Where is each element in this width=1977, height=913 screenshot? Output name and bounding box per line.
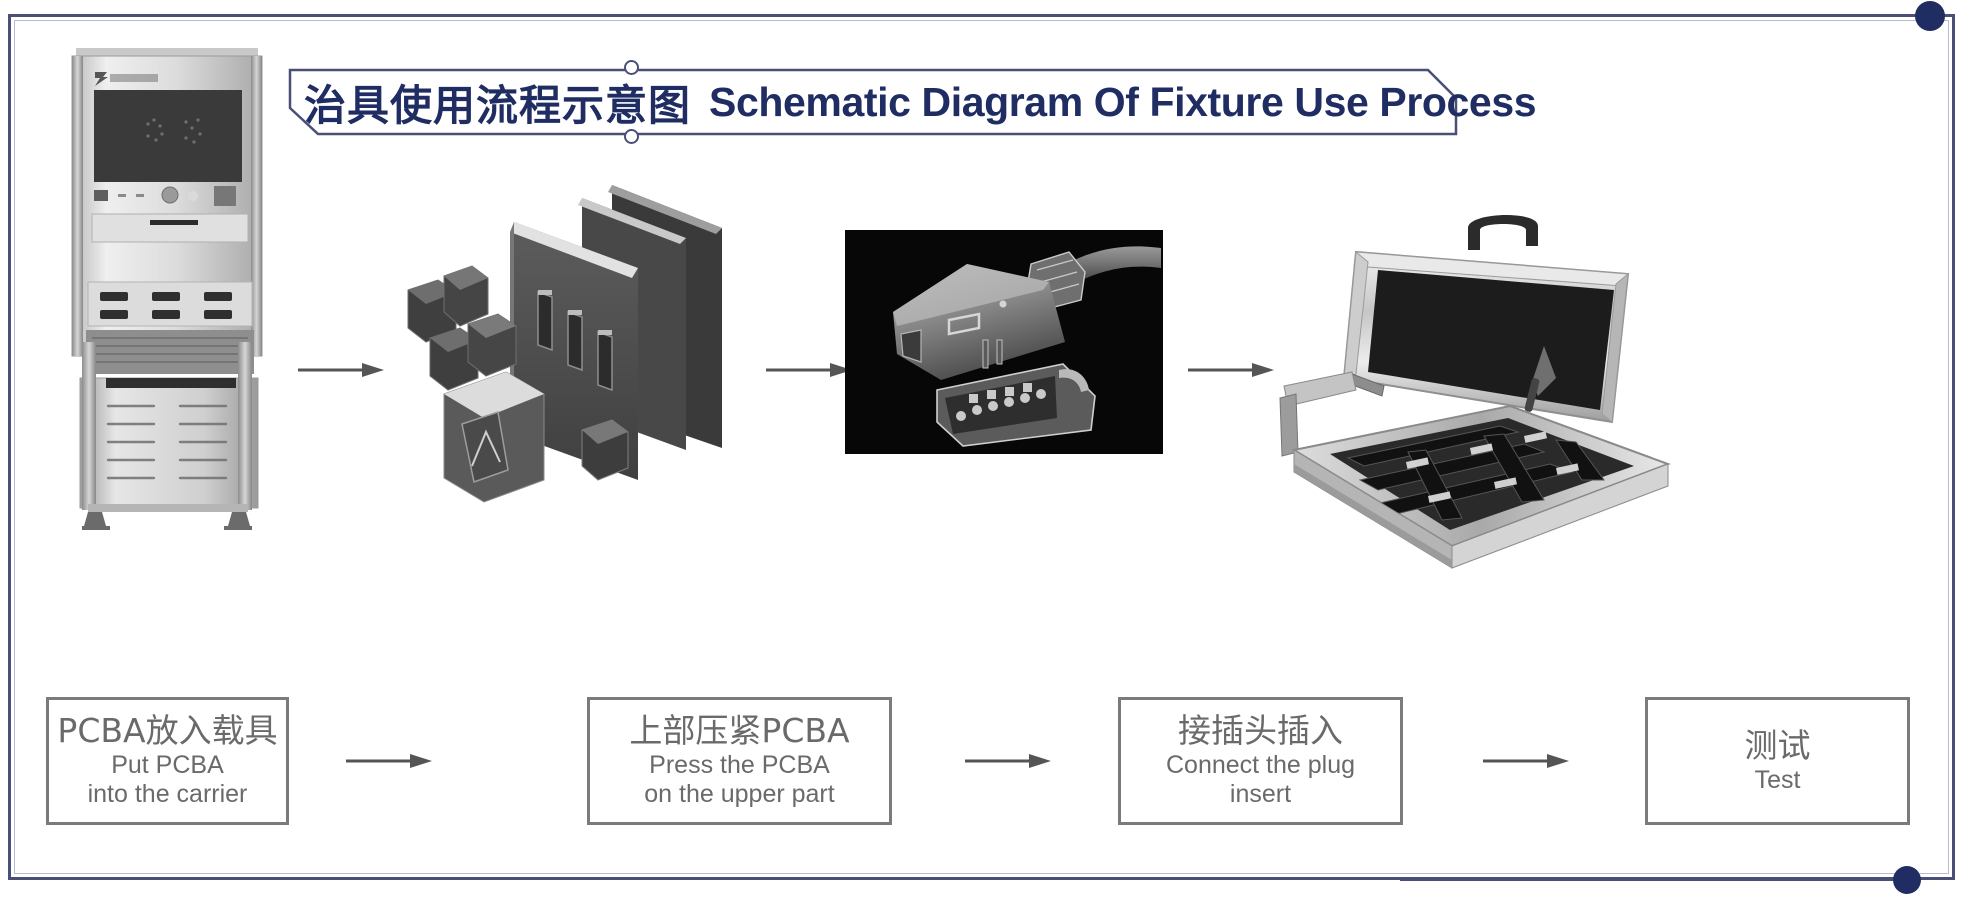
- top-right-accent-dot: [1915, 1, 1945, 31]
- caption-english-step-4: Test: [1755, 766, 1801, 796]
- caption-arrow-3: [1481, 749, 1571, 773]
- step-1-image: [62, 42, 272, 542]
- arrow-right-icon: [296, 358, 386, 382]
- slide-canvas: 治具使用流程示意图 Schematic Diagram Of Fixture U…: [0, 0, 1977, 913]
- caption-box-step-1[interactable]: PCBA放入载具 Put PCBA into the carrier: [46, 697, 289, 825]
- caption-english-step-3: Connect the plug insert: [1166, 751, 1355, 810]
- caption-english-step-1: Put PCBA into the carrier: [88, 751, 248, 810]
- caption-chinese-step-3: 接插头插入: [1178, 712, 1343, 751]
- bottom-right-accent-line: [1400, 878, 1900, 881]
- caption-box-step-4[interactable]: 测试 Test: [1645, 697, 1910, 825]
- arrow-right-icon: [1481, 749, 1571, 773]
- caption-english-step-2: Press the PCBA on the upper part: [644, 751, 834, 810]
- top-right-accent-line: [1500, 14, 1920, 17]
- caption-arrow-1: [344, 749, 434, 773]
- caption-chinese-step-2: 上部压紧PCBA: [629, 712, 849, 751]
- test-rack-machine-photo: [62, 42, 272, 542]
- open-test-fixture-case-photo: [1256, 200, 1676, 600]
- caption-chinese-step-4: 测试: [1745, 727, 1811, 766]
- process-caption-row: PCBA放入载具 Put PCBA into the carrier 上部压紧P…: [0, 697, 1977, 837]
- row-arrow-2: [764, 358, 854, 382]
- arrow-right-icon: [963, 749, 1053, 773]
- title-text-group: 治具使用流程示意图 Schematic Diagram Of Fixture U…: [288, 68, 1458, 136]
- step-3-image: [845, 230, 1163, 454]
- caption-arrow-2: [963, 749, 1053, 773]
- caption-chinese-step-1: PCBA放入载具: [57, 712, 277, 751]
- caption-box-step-3[interactable]: 接插头插入 Connect the plug insert: [1118, 697, 1403, 825]
- step-2-image: [386, 180, 746, 510]
- page-title-english: Schematic Diagram Of Fixture Use Process: [709, 79, 1536, 126]
- arrow-right-icon: [764, 358, 854, 382]
- process-image-row: [0, 150, 1977, 550]
- connector-plug-photo: [845, 230, 1163, 454]
- caption-box-step-2[interactable]: 上部压紧PCBA Press the PCBA on the upper par…: [587, 697, 892, 825]
- step-4-image: [1256, 200, 1676, 600]
- row-arrow-1: [296, 358, 386, 382]
- fixture-cad-exploded-view: [386, 180, 746, 510]
- arrow-right-icon: [344, 749, 434, 773]
- bottom-right-accent-dot: [1893, 866, 1921, 894]
- page-title-chinese: 治具使用流程示意图: [304, 72, 691, 133]
- title-banner: 治具使用流程示意图 Schematic Diagram Of Fixture U…: [288, 68, 1458, 136]
